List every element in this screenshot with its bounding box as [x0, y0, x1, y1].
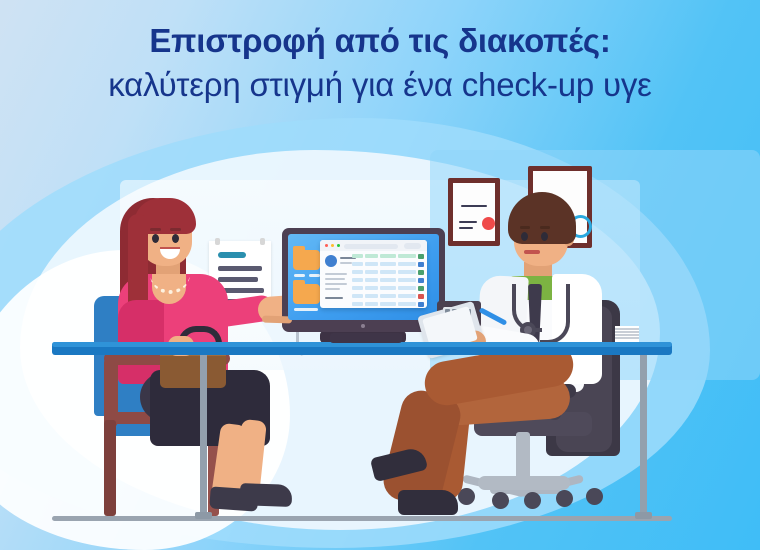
address-bar[interactable] [344, 244, 398, 249]
keyboard[interactable] [330, 333, 402, 343]
poster-heading-bar [218, 252, 246, 258]
certificate-seal-red [482, 217, 495, 230]
page-title: Επιστροφή από τις διακοπές: καλύτερη στι… [0, 22, 760, 104]
table-row [352, 262, 424, 268]
desktop-folder-icon[interactable] [293, 284, 320, 304]
table-row [352, 294, 424, 300]
office-chair-base-hub [478, 476, 570, 490]
table-row [352, 270, 424, 276]
table-row [352, 302, 424, 308]
paper-stack [615, 326, 639, 342]
woman-shoe [240, 483, 293, 507]
illustration-canvas: Επιστροφή από τις διακοπές: καλύτερη στι… [0, 0, 760, 550]
headline-line-2: καλύτερη στιγμή για ένα check-up υγε [0, 66, 760, 104]
office-chair-gas-lift [516, 432, 530, 480]
minimize-icon[interactable] [331, 244, 334, 247]
certificate-frame-left [448, 178, 500, 246]
table-row [352, 278, 424, 284]
visitor-chair-leg-front [104, 420, 116, 516]
stethoscope-tube-right [540, 284, 570, 344]
doctor-shoe [398, 490, 458, 515]
close-icon[interactable] [325, 244, 328, 247]
chair-caster [556, 490, 573, 507]
floor-line [52, 516, 672, 521]
desktop-folder-icon[interactable] [293, 250, 320, 270]
poster-pin-left [215, 238, 220, 245]
desk-leg-right [640, 353, 647, 517]
poster-pin-right [260, 238, 265, 245]
headline-line-1: Επιστροφή από τις διακοπές: [0, 22, 760, 60]
chair-caster [524, 492, 541, 509]
chair-caster [586, 488, 603, 505]
toolbar-button[interactable] [404, 243, 421, 249]
table-header-row [352, 254, 424, 260]
table-row [352, 286, 424, 292]
desk-leg-left [200, 353, 207, 517]
doctor-mouth [524, 250, 540, 254]
avatar [325, 255, 337, 267]
visitor-chair-armrest [104, 356, 118, 428]
monitor-power-led [361, 324, 365, 328]
certificate-mat [453, 183, 495, 241]
chair-caster [492, 492, 509, 509]
maximize-icon[interactable] [337, 244, 340, 247]
browser-window [320, 240, 427, 308]
